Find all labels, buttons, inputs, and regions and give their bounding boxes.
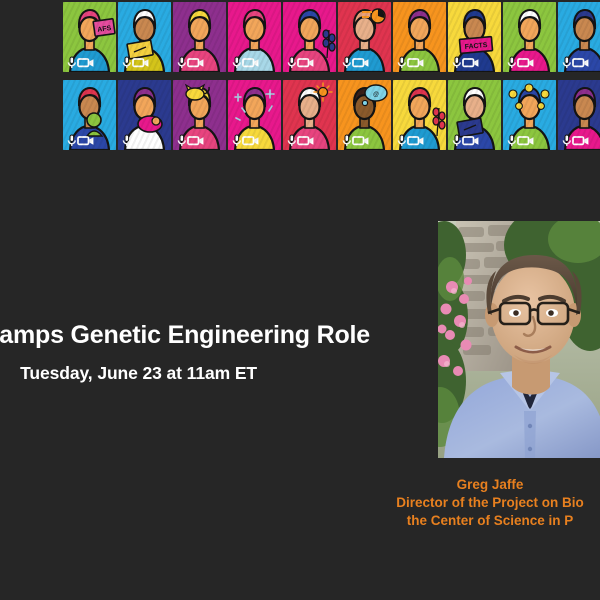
tile-texture-overlay (448, 2, 501, 72)
tile-texture-overlay (448, 80, 501, 150)
participant-tile (173, 80, 226, 150)
participant-tile: FACTS (448, 2, 501, 72)
speaker-portrait-photo (438, 221, 600, 458)
tile-texture-overlay (503, 80, 556, 150)
tile-texture-overlay (558, 80, 600, 150)
participant-tile (283, 80, 336, 150)
participant-tile (118, 2, 171, 72)
participant-tile (338, 2, 391, 72)
participant-tile: AFS (63, 2, 116, 72)
tile-texture-overlay (173, 80, 226, 150)
participant-tile (503, 2, 556, 72)
participant-tile (283, 2, 336, 72)
participant-tile (173, 2, 226, 72)
event-datetime: Tuesday, June 23 at 11am ET (0, 364, 370, 383)
participant-tile (118, 80, 171, 150)
participant-tile: @ (338, 80, 391, 150)
tile-texture-overlay (393, 2, 446, 72)
speaker-name: Greg Jaffe (300, 476, 600, 494)
tile-texture-overlay (228, 80, 281, 150)
tile-texture-overlay (173, 2, 226, 72)
participant-tile (228, 80, 281, 150)
tile-texture-overlay (338, 2, 391, 72)
tile-texture-overlay (283, 2, 336, 72)
tile-texture-overlay (228, 2, 281, 72)
tile-texture-overlay (393, 80, 446, 150)
tile-texture-overlay (63, 2, 116, 72)
tile-texture-overlay (283, 80, 336, 150)
participant-tile (393, 80, 446, 150)
speaker-title-line-2: the Center of Science in P (300, 512, 600, 530)
tile-texture-overlay (118, 2, 171, 72)
participant-tile (558, 80, 600, 150)
tile-texture-overlay (338, 80, 391, 150)
promo-canvas: AFS (0, 0, 600, 600)
participant-tile (503, 80, 556, 150)
tile-texture-overlay (63, 80, 116, 150)
speaker-title-line-1: Director of the Project on Bio (300, 494, 600, 512)
tile-texture-overlay (503, 2, 556, 72)
participant-tile (558, 2, 600, 72)
speaker-credit: Greg Jaffe Director of the Project on Bi… (300, 476, 600, 529)
participant-tile (228, 2, 281, 72)
headline-block: wamps Genetic Engineering Role Tuesday, … (0, 322, 370, 383)
participant-tile-grid: AFS (63, 2, 600, 152)
page-title: wamps Genetic Engineering Role (0, 322, 370, 350)
tile-texture-overlay (118, 80, 171, 150)
tile-texture-overlay (558, 2, 600, 72)
participant-tile (448, 80, 501, 150)
participant-tile (63, 80, 116, 150)
participant-tile (393, 2, 446, 72)
